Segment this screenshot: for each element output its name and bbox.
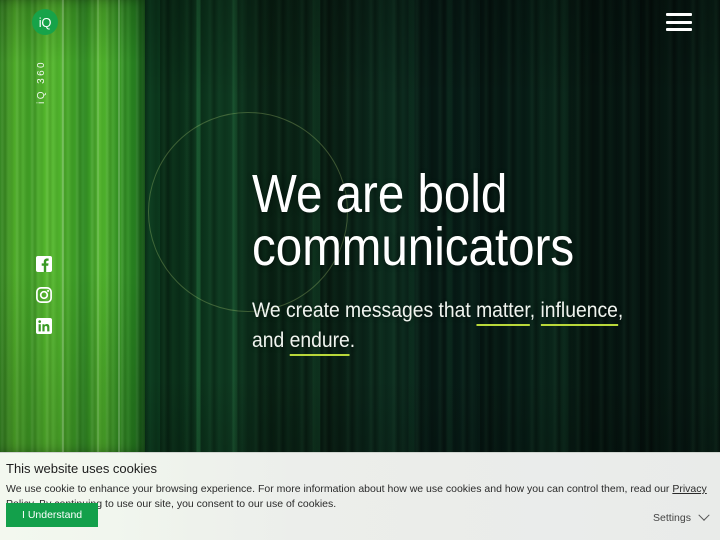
social-links	[36, 256, 52, 334]
hero-copy: We are bold communicators We create mess…	[252, 168, 692, 357]
subhead-emphasis-endure: endure	[290, 329, 350, 356]
logo-badge[interactable]: iQ	[32, 9, 58, 35]
leaf-vein	[97, 0, 99, 452]
hamburger-menu-icon[interactable]	[666, 13, 692, 31]
leaf-panel	[0, 0, 145, 452]
cookie-body-text-before: We use cookie to enhance your browsing e…	[6, 483, 672, 495]
linkedin-icon[interactable]	[36, 318, 52, 334]
subhead-emphasis-matter: matter	[476, 299, 530, 326]
chevron-down-icon	[698, 510, 709, 521]
cookie-settings-label: Settings	[653, 512, 691, 524]
subhead-text-1: We create messages that	[252, 299, 476, 322]
subhead-text-2: ,	[530, 299, 541, 322]
cookie-banner-body: We use cookie to enhance your browsing e…	[6, 482, 714, 512]
accept-cookies-button[interactable]: I Understand	[6, 503, 98, 527]
hero-headline: We are bold communicators	[252, 168, 639, 274]
cookie-banner-title: This website uses cookies	[6, 461, 157, 476]
hamburger-bar	[666, 21, 692, 24]
logo-text: iQ	[39, 15, 51, 30]
hero-subheadline: We create messages that matter, influenc…	[252, 296, 657, 357]
leaf-vein	[62, 0, 64, 452]
cookie-settings-toggle[interactable]: Settings	[653, 512, 708, 524]
leaf-vein	[118, 0, 120, 452]
subhead-text-4: .	[350, 329, 355, 352]
hamburger-bar	[666, 13, 692, 16]
cookie-consent-banner: This website uses cookies We use cookie …	[0, 452, 720, 540]
leaf-panel-shading	[0, 0, 145, 452]
hamburger-bar	[666, 28, 692, 31]
instagram-icon[interactable]	[36, 287, 52, 303]
facebook-icon[interactable]	[36, 256, 52, 272]
page-root: iQ iQ 360	[0, 0, 720, 540]
subhead-emphasis-influence: influence	[541, 299, 618, 326]
vertical-brand-label: iQ 360	[36, 60, 47, 104]
